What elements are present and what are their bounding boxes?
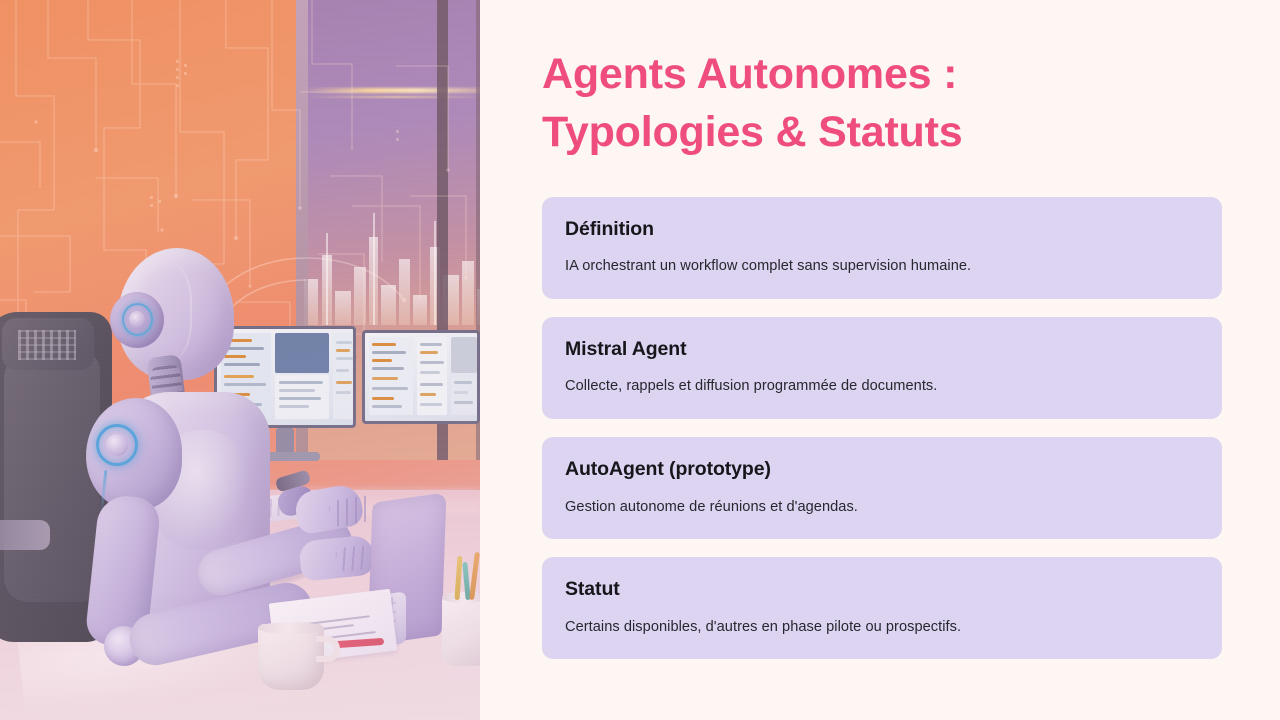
card-title: AutoAgent (prototype) [565, 458, 1199, 481]
office-chair-cushion [4, 352, 100, 602]
robot-ear-core [129, 311, 145, 328]
office-chair-mesh [18, 330, 76, 360]
page-title: Agents Autonomes : Typologies & Statuts [542, 46, 1242, 161]
pen-cup [442, 596, 480, 666]
page-title-line-1: Agents Autonomes : [542, 50, 957, 98]
robot-shoulder-core [106, 434, 128, 456]
page-title-line-2: Typologies & Statuts [542, 108, 962, 156]
content-panel: Agents Autonomes : Typologies & Statuts … [480, 0, 1280, 720]
card-body: Collecte, rappels et diffusion programmé… [565, 377, 1199, 397]
hero-illustration [0, 0, 480, 720]
card-title: Mistral Agent [565, 338, 1199, 361]
coffee-mug-rim [258, 622, 324, 634]
slide: Agents Autonomes : Typologies & Statuts … [0, 0, 1280, 720]
card-body: Certains disponibles, d'autres en phase … [565, 618, 1199, 638]
card-statut: Statut Certains disponibles, d'autres en… [542, 557, 1222, 659]
monitor-right [362, 330, 480, 424]
card-body: IA orchestrant un workflow complet sans … [565, 257, 1199, 277]
card-list: Définition IA orchestrant un workflow co… [542, 197, 1222, 659]
card-definition: Définition IA orchestrant un workflow co… [542, 197, 1222, 299]
card-title: Statut [565, 578, 1199, 601]
office-chair-armrest [0, 520, 50, 550]
card-body: Gestion autonome de réunions et d'agenda… [565, 498, 1199, 518]
card-mistral-agent: Mistral Agent Collecte, rappels et diffu… [542, 317, 1222, 419]
card-title: Définition [565, 218, 1199, 241]
card-autoagent-prototype: AutoAgent (prototype) Gestion autonome d… [542, 437, 1222, 539]
